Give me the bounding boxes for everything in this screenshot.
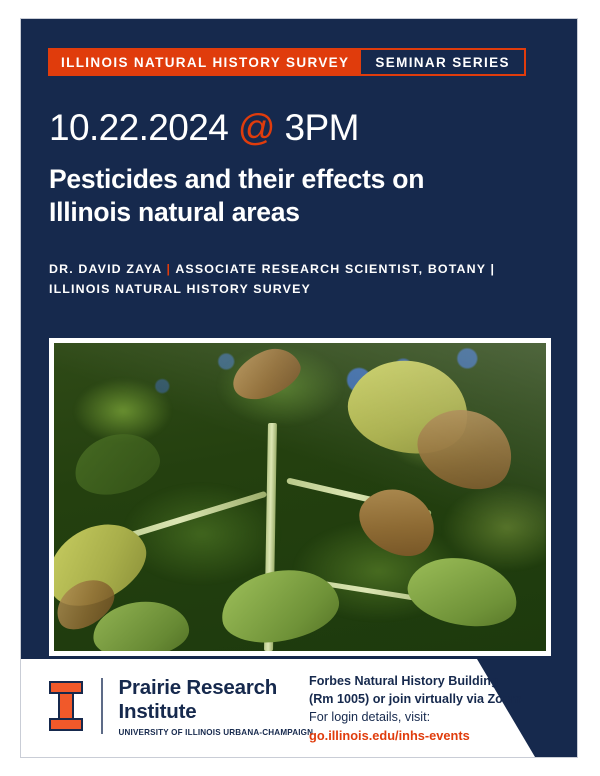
seminar-photo-frame bbox=[49, 338, 551, 656]
event-date: 10.22.2024 bbox=[49, 107, 228, 148]
illinois-block-i-icon bbox=[49, 681, 83, 731]
title-line-2: Illinois natural areas bbox=[49, 196, 529, 229]
speaker-credits: DR. DAVID ZAYA | ASSOCIATE RESEARCH SCIE… bbox=[49, 259, 549, 299]
event-time: 3PM bbox=[285, 107, 359, 148]
logo-wordmark: Prairie Research Institute UNIVERSITY OF… bbox=[119, 676, 314, 737]
seminar-photo bbox=[54, 343, 546, 651]
speaker-affiliation: ILLINOIS NATURAL HISTORY SURVEY bbox=[49, 282, 311, 296]
institute-name-line-1: Prairie Research bbox=[119, 676, 314, 700]
venue-login-note: For login details, visit: bbox=[309, 709, 522, 727]
venue-room-and-zoom: (Rm 1005) or join virtually via Zoom bbox=[309, 691, 522, 709]
page-title: Pesticides and their effects on Illinois… bbox=[49, 163, 529, 230]
institute-subtitle: UNIVERSITY OF ILLINOIS URBANA-CHAMPAIGN bbox=[119, 728, 314, 737]
seminar-series-banner: ILLINOIS NATURAL HISTORY SURVEY SEMINAR … bbox=[48, 48, 526, 76]
event-url-link[interactable]: go.illinois.edu/inhs-events bbox=[309, 727, 522, 745]
speaker-separator-1: | bbox=[167, 262, 172, 276]
institute-name-line-2: Institute bbox=[119, 700, 314, 724]
venue-details: Forbes Natural History Building (Rm 1005… bbox=[309, 673, 522, 745]
banner-organization-label: ILLINOIS NATURAL HISTORY SURVEY bbox=[48, 48, 361, 76]
speaker-separator-2: | bbox=[491, 262, 496, 276]
banner-series-label: SEMINAR SERIES bbox=[361, 48, 525, 76]
block-i-middle-bar bbox=[58, 692, 74, 720]
logo-divider bbox=[101, 678, 103, 734]
poster-footer: Prairie Research Institute UNIVERSITY OF… bbox=[21, 659, 577, 757]
block-i-bottom-bar bbox=[49, 718, 83, 731]
venue-building: Forbes Natural History Building bbox=[309, 673, 522, 691]
speaker-role: ASSOCIATE RESEARCH SCIENTIST, BOTANY bbox=[175, 262, 486, 276]
at-symbol: @ bbox=[238, 107, 275, 148]
event-datetime: 10.22.2024 @ 3PM bbox=[49, 107, 359, 149]
title-line-1: Pesticides and their effects on bbox=[49, 163, 529, 196]
prairie-research-institute-logo: Prairie Research Institute UNIVERSITY OF… bbox=[49, 676, 313, 737]
seminar-poster: ILLINOIS NATURAL HISTORY SURVEY SEMINAR … bbox=[20, 18, 578, 758]
speaker-name: DR. DAVID ZAYA bbox=[49, 262, 162, 276]
